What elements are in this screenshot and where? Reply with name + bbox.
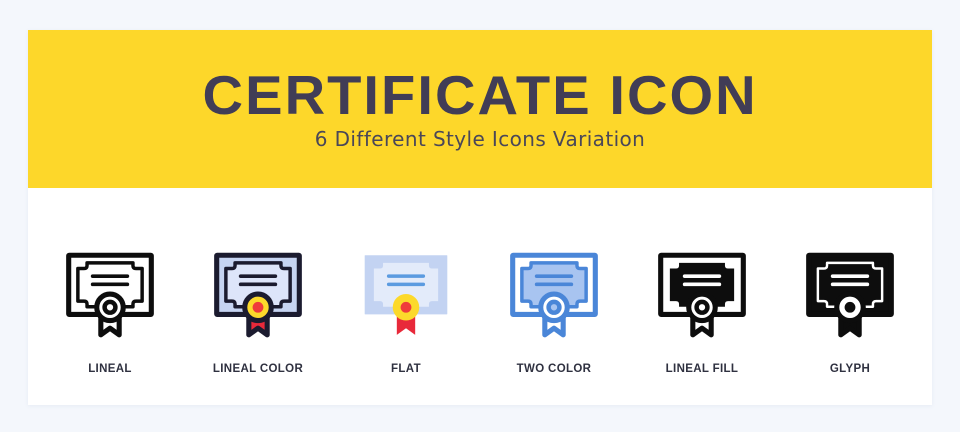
- page-title: CERTIFICATE ICON: [202, 68, 757, 123]
- icon-variation-cell-two-color[interactable]: TWO COLOR: [484, 188, 624, 375]
- icon-variation-grid: LINEALLINEAL COLORFLATTWO COLORLINEAL FI…: [28, 188, 932, 405]
- certificate-glyph-icon-wrapper[interactable]: [795, 238, 905, 348]
- medal-center: [253, 302, 264, 313]
- certificate-two-color-icon-wrapper[interactable]: [499, 238, 609, 348]
- certificate-lineal-fill-icon-wrapper[interactable]: [647, 238, 757, 348]
- icon-variation-cell-glyph[interactable]: GLYPH: [780, 188, 920, 375]
- certificate-lineal-icon: [59, 242, 161, 344]
- icon-variation-cell-flat[interactable]: FLAT: [336, 188, 476, 375]
- certificate-glyph-icon: [799, 242, 901, 344]
- medal-center: [549, 302, 560, 313]
- icon-set-poster: CERTIFICATE ICON 6 Different Style Icons…: [28, 30, 932, 405]
- icon-variation-cell-lineal-fill[interactable]: LINEAL FILL: [632, 188, 772, 375]
- medal-disc: [689, 294, 716, 321]
- icon-style-label: LINEAL: [88, 363, 132, 375]
- certificate-lineal-color-icon: [207, 242, 309, 344]
- icon-style-label: FLAT: [391, 363, 421, 375]
- title-banner: CERTIFICATE ICON 6 Different Style Icons…: [28, 30, 932, 188]
- icon-style-label: GLYPH: [830, 363, 870, 375]
- medal-center: [845, 302, 856, 313]
- icon-style-label: LINEAL FILL: [666, 363, 739, 375]
- certificate-lineal-color-icon-wrapper[interactable]: [203, 238, 313, 348]
- certificate-two-color-icon: [503, 242, 605, 344]
- certificate-flat-icon: [355, 242, 457, 344]
- certificate-flat-icon-wrapper[interactable]: [351, 238, 461, 348]
- medal-disc: [97, 294, 124, 321]
- icon-style-label: TWO COLOR: [517, 363, 592, 375]
- page-subtitle: 6 Different Style Icons Variation: [315, 127, 646, 151]
- icon-variation-cell-lineal-color[interactable]: LINEAL COLOR: [188, 188, 328, 375]
- icon-style-label: LINEAL COLOR: [213, 363, 303, 375]
- certificate-lineal-fill-icon: [651, 242, 753, 344]
- certificate-lineal-icon-wrapper[interactable]: [55, 238, 165, 348]
- icon-variation-cell-lineal[interactable]: LINEAL: [40, 188, 180, 375]
- medal-center: [401, 302, 412, 313]
